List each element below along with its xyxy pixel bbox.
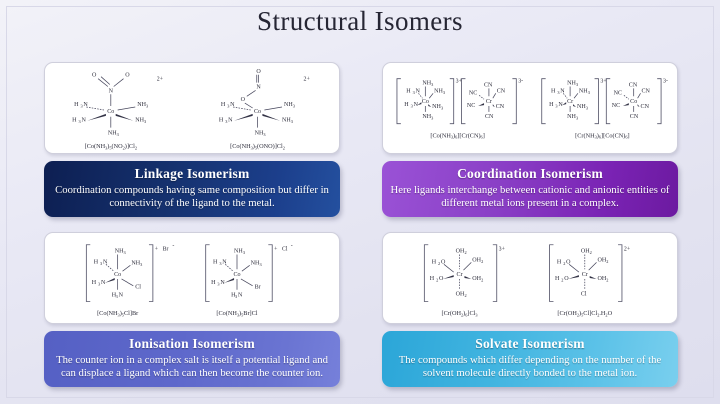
svg-text:Co: Co (422, 99, 429, 105)
solvate-structures-svg: 3+ Cr OH 2 OH 2 H 2 O H 2 O OH 2 O (383, 233, 677, 323)
svg-text:3: 3 (576, 82, 578, 87)
svg-text:H: H (219, 118, 224, 124)
svg-text:3: 3 (235, 294, 237, 299)
svg-text:Cr: Cr (457, 272, 463, 278)
svg-text:2: 2 (606, 277, 608, 282)
svg-text:3: 3 (219, 261, 221, 266)
svg-text:Br: Br (163, 247, 169, 253)
svg-text:N: N (414, 102, 419, 108)
svg-text:Co: Co (107, 109, 114, 115)
svg-text:-: - (172, 244, 174, 250)
svg-text:2+: 2+ (304, 77, 311, 83)
svg-text:3: 3 (291, 119, 293, 124)
svg-text:2: 2 (590, 250, 592, 255)
svg-text:+: + (155, 247, 159, 253)
svg-text:C: C (473, 90, 477, 96)
svg-text:3: 3 (140, 262, 142, 267)
svg-text:3: 3 (555, 104, 557, 109)
svg-text:Co: Co (114, 272, 121, 278)
quadrant-coordination: 3+ Co NH 3 H 3 N NH 3 H 3 N NH 3 N (382, 62, 678, 217)
heading-linkage: Linkage Isomerism (52, 166, 332, 182)
svg-text:H: H (211, 280, 216, 286)
label-card-ionisation: Ionisation Isomerism The counter ion in … (44, 331, 340, 387)
svg-text:N: N (256, 84, 261, 90)
svg-text:2+: 2+ (157, 77, 164, 83)
svg-text:Co: Co (630, 99, 637, 105)
body-linkage: Coordination compounds having same compo… (52, 184, 332, 210)
svg-text:3+: 3+ (499, 247, 506, 253)
structure-hexaaqua: 3+ Cr OH 2 OH 2 H 2 O H 2 O OH 2 O (424, 245, 505, 318)
svg-text:3: 3 (586, 105, 588, 110)
svg-text:C: C (616, 103, 620, 109)
svg-text:3-: 3- (663, 79, 668, 85)
figure-ionisation: + Br - Co NH 3 H 3 N NH 3 H 3 N (44, 232, 340, 324)
svg-text:N: N (81, 118, 86, 124)
svg-text:2: 2 (438, 261, 440, 266)
linkage-structures-svg: O O N 2+ Co H 3 N NH 3 H 3 N (45, 63, 339, 153)
svg-text:O: O (241, 97, 246, 103)
ion-cr-ammine-cation: 3+ Cr NH 3 H 3 N NH 3 H 3 N NH 3 N (542, 79, 608, 124)
svg-text:H: H (74, 102, 79, 108)
heading-ionisation: Ionisation Isomerism (52, 336, 332, 352)
formula-coordination-pair-1: [Co(NH3)6][Cr(CN)6] (430, 132, 484, 139)
svg-text:3: 3 (576, 115, 578, 120)
formula-pentaaqua-chloro: [Cr(OH2)5Cl]Cl2.H2O (557, 310, 612, 317)
ion-co-ammine-cation: 3+ Co NH 3 H 3 N NH 3 H 3 N NH 3 N (397, 79, 463, 124)
svg-text:Cr: Cr (582, 272, 588, 278)
svg-text:Cl: Cl (581, 292, 587, 298)
svg-text:3: 3 (117, 132, 119, 137)
svg-text:2: 2 (606, 259, 608, 264)
svg-text:C: C (618, 90, 622, 96)
svg-text:N: N (416, 88, 421, 94)
svg-text:N: N (228, 118, 233, 124)
svg-text:N: N (220, 280, 225, 286)
svg-text:H: H (72, 118, 77, 124)
structure-bromo-chloride: + Cl - Co NH 3 H 3 N NH 3 H 3 N Br (206, 244, 293, 318)
svg-text:Cr: Cr (486, 99, 492, 105)
svg-text:CN: CN (642, 88, 651, 94)
quadrant-ionisation: + Br - Co NH 3 H 3 N NH 3 H 3 N (44, 232, 340, 387)
svg-text:-: - (291, 244, 293, 250)
svg-text:H: H (551, 88, 556, 94)
svg-text:O: O (92, 73, 97, 79)
svg-text:N: N (222, 259, 227, 265)
formula-bromo-chloride: [Co(NH3)5Br]Cl (216, 310, 257, 317)
svg-text:3: 3 (144, 119, 146, 124)
svg-text:H: H (430, 276, 435, 282)
heading-coordination: Coordination Isomerism (390, 166, 670, 182)
body-coordination: Here ligands interchange between cationi… (390, 184, 670, 210)
svg-text:H: H (557, 259, 562, 265)
svg-text:2: 2 (481, 277, 483, 282)
ion-cr-cyanide-anion: 3- Cr CN N C CN N C CN CN (462, 79, 524, 124)
svg-text:H: H (555, 276, 560, 282)
svg-text:3: 3 (116, 294, 118, 299)
svg-text:3: 3 (588, 90, 590, 95)
figure-solvate: 3+ Cr OH 2 OH 2 H 2 O H 2 O OH 2 O (382, 232, 678, 324)
body-ionisation: The counter ion in a complex salt is its… (52, 354, 332, 380)
svg-text:CN: CN (497, 88, 506, 94)
page-title: Structural Isomers (0, 6, 720, 37)
figure-linkage: O O N 2+ Co H 3 N NH 3 H 3 N (44, 62, 340, 154)
label-card-coordination: Coordination Isomerism Here ligands inte… (382, 161, 678, 217)
svg-text:O: O (439, 276, 444, 282)
svg-text:N: N (103, 259, 108, 265)
svg-text:3: 3 (98, 281, 100, 286)
formula-hexaaqua: [Cr(OH2)6]Cl3 (442, 310, 478, 317)
svg-text:3: 3 (411, 104, 413, 109)
svg-text:3: 3 (227, 104, 229, 109)
quadrant-linkage: O O N 2+ Co H 3 N NH 3 H 3 N (44, 62, 340, 217)
svg-text:CN: CN (641, 104, 650, 110)
svg-text:3: 3 (431, 82, 433, 87)
svg-text:3: 3 (557, 90, 559, 95)
svg-text:Co: Co (254, 109, 261, 115)
svg-text:3: 3 (146, 104, 148, 109)
svg-text:2: 2 (436, 277, 438, 282)
svg-text:3: 3 (413, 90, 415, 95)
formula-nitrito: [Co(NH3)5(ONO)]Cl2 (230, 143, 285, 150)
svg-text:H: H (213, 259, 218, 265)
svg-text:3: 3 (225, 119, 227, 124)
svg-text:C: C (471, 103, 475, 109)
quadrant-solvate: 3+ Cr OH 2 OH 2 H 2 O H 2 O OH 2 O (382, 232, 678, 387)
svg-text:H: H (92, 280, 97, 286)
svg-text:O: O (256, 69, 261, 75)
svg-text:H: H (94, 259, 99, 265)
structure-nitro: O O N 2+ Co H 3 N NH 3 H 3 N (72, 73, 164, 151)
svg-text:3: 3 (431, 115, 433, 120)
structure-pentaaqua-chloro: 2+ Cr OH 2 OH 2 H 2 O H 2 O OH 2 C (550, 245, 631, 318)
svg-text:N: N (109, 88, 114, 94)
svg-text:3: 3 (443, 90, 445, 95)
svg-text:Br: Br (255, 285, 261, 291)
svg-text:3: 3 (79, 119, 81, 124)
svg-text:3-: 3- (518, 79, 523, 85)
svg-text:O: O (564, 276, 569, 282)
svg-text:2: 2 (481, 259, 483, 264)
svg-text:H: H (404, 102, 409, 108)
svg-text:N: N (558, 102, 563, 108)
svg-text:CN: CN (485, 114, 494, 120)
formula-coordination-pair-2: [Cr(NH3)6][Co(CN)6] (575, 132, 629, 139)
svg-text:CN: CN (629, 82, 638, 88)
svg-text:3: 3 (217, 281, 219, 286)
structure-chloro-bromide: + Br - Co NH 3 H 3 N NH 3 H 3 N (86, 244, 174, 318)
svg-text:CN: CN (496, 104, 505, 110)
ionisation-structures-svg: + Br - Co NH 3 H 3 N NH 3 H 3 N (45, 233, 339, 323)
svg-text:H: H (549, 102, 554, 108)
svg-text:2: 2 (464, 250, 466, 255)
svg-text:N: N (560, 88, 565, 94)
svg-text:CN: CN (484, 82, 493, 88)
svg-text:O: O (566, 259, 571, 265)
label-card-solvate: Solvate Isomerism The compounds which di… (382, 331, 678, 387)
coordination-structures-svg: 3+ Co NH 3 H 3 N NH 3 H 3 N NH 3 N (383, 63, 677, 153)
svg-text:3: 3 (243, 250, 245, 255)
svg-text:3: 3 (441, 105, 443, 110)
svg-text:3: 3 (100, 261, 102, 266)
heading-solvate: Solvate Isomerism (390, 336, 670, 352)
svg-text:2: 2 (561, 277, 563, 282)
svg-text:2: 2 (464, 293, 466, 298)
svg-text:Cr: Cr (567, 99, 573, 105)
svg-text:Co: Co (233, 272, 240, 278)
svg-text:2: 2 (563, 261, 565, 266)
svg-text:+: + (274, 247, 278, 253)
structure-nitrito: O N O 2+ Co H 3 N NH 3 H 3 N NH (219, 69, 311, 151)
label-card-linkage: Linkage Isomerism Coordination compounds… (44, 161, 340, 217)
svg-text:3: 3 (263, 132, 265, 137)
svg-text:3: 3 (260, 262, 262, 267)
figure-coordination: 3+ Co NH 3 H 3 N NH 3 H 3 N NH 3 N (382, 62, 678, 154)
body-solvate: The compounds which differ depending on … (390, 354, 670, 380)
svg-text:2+: 2+ (624, 247, 631, 253)
svg-text:H: H (432, 259, 437, 265)
svg-text:H: H (406, 88, 411, 94)
svg-text:O: O (441, 259, 446, 265)
svg-text:N: N (101, 280, 106, 286)
svg-text:Cl: Cl (135, 285, 141, 291)
svg-text:CN: CN (630, 114, 639, 120)
svg-text:O: O (125, 73, 130, 79)
svg-text:N: N (119, 293, 124, 299)
svg-text:Cl: Cl (282, 247, 288, 253)
svg-text:H: H (221, 102, 226, 108)
svg-text:3: 3 (124, 250, 126, 255)
svg-text:N: N (238, 293, 243, 299)
formula-chloro-bromide: [Co(NH3)5Cl]Br (97, 310, 139, 317)
svg-text:3: 3 (80, 104, 82, 109)
formula-nitro: [Co(NH3)5(NO2)]Cl2 (85, 143, 137, 150)
ion-co-cyanide-anion: 3- Co CN N C CN N C CN CN (606, 79, 668, 124)
svg-text:3: 3 (293, 104, 295, 109)
